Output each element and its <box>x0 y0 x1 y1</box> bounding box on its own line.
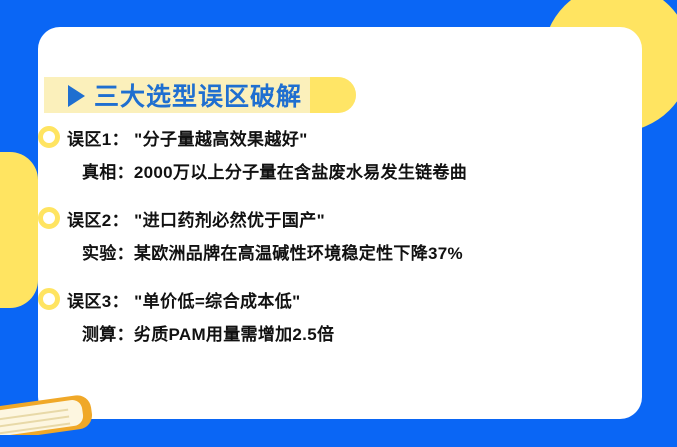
myth-heading-row: 误区3： "单价低=综合成本低" <box>38 284 642 314</box>
slide-canvas: 三大选型误区破解 误区1： "分子量越高效果越好" 真相：2000万以上分子量在… <box>0 0 677 447</box>
ring-bullet-icon <box>38 126 60 148</box>
bottom-band <box>0 435 677 447</box>
page-title: 三大选型误区破解 <box>94 77 302 113</box>
page-title-row: 三大选型误区破解 <box>44 75 302 115</box>
myth-detail: 实验：某欧洲品牌在高温碱性环境稳定性下降37% <box>38 239 642 264</box>
myth-detail: 真相：2000万以上分子量在含盐废水易发生链卷曲 <box>38 158 642 183</box>
ring-bullet-icon <box>38 288 60 310</box>
title-highlight-cap <box>310 77 356 113</box>
list-item: 误区1： "分子量越高效果越好" 真相：2000万以上分子量在含盐废水易发生链卷… <box>38 122 642 183</box>
myth-detail: 测算：劣质PAM用量需增加2.5倍 <box>38 320 642 345</box>
list-item: 误区2： "进口药剂必然优于国产" 实验：某欧洲品牌在高温碱性环境稳定性下降37… <box>38 203 642 264</box>
myth-heading-row: 误区2： "进口药剂必然优于国产" <box>38 203 642 233</box>
content-card: 三大选型误区破解 误区1： "分子量越高效果越好" 真相：2000万以上分子量在… <box>38 27 642 419</box>
list-item: 误区3： "单价低=综合成本低" 测算：劣质PAM用量需增加2.5倍 <box>38 284 642 345</box>
myth-heading: 误区2： "进口药剂必然优于国产" <box>67 206 325 231</box>
myth-heading: 误区1： "分子量越高效果越好" <box>67 125 308 150</box>
yellow-rounded-bar-decoration <box>0 152 38 308</box>
triangle-right-icon <box>68 85 85 107</box>
myth-list: 误区1： "分子量越高效果越好" 真相：2000万以上分子量在含盐废水易发生链卷… <box>38 122 642 365</box>
myth-heading-row: 误区1： "分子量越高效果越好" <box>38 122 642 152</box>
myth-heading: 误区3： "单价低=综合成本低" <box>67 287 301 312</box>
ring-bullet-icon <box>38 207 60 229</box>
